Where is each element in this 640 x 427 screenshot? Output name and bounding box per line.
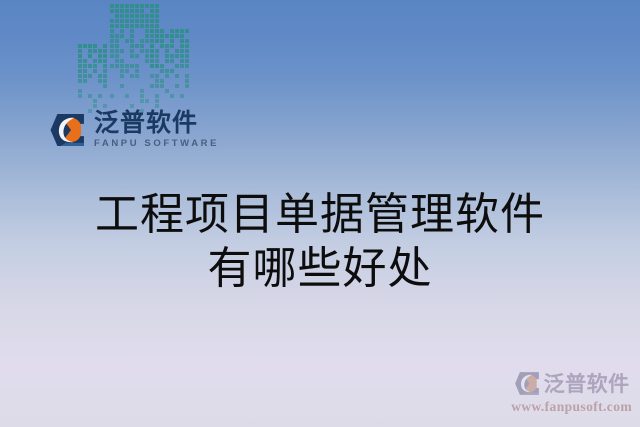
fanpu-logo: 泛普软件 FANPU SOFTWARE [49,111,219,149]
pixel-skyline-icon [78,26,182,114]
watermark-logo-mark-icon [514,370,541,397]
logo-name-cn: 泛普软件 [94,111,219,136]
headline-line-1: 工程项目单据管理软件 [0,188,640,242]
watermark: 泛普软件 www.fanpusoft.com [511,368,632,415]
fanpu-logo-mark-icon [49,111,87,149]
headline: 工程项目单据管理软件 有哪些好处 [0,188,640,296]
logo-name-en: FANPU SOFTWARE [94,139,219,149]
headline-line-2: 有哪些好处 [0,242,640,296]
watermark-name-cn: 泛普软件 [544,368,630,398]
watermark-url: www.fanpusoft.com [511,399,632,415]
mosaic-building [150,29,190,114]
mosaic-building [78,44,108,114]
banner-image: 泛普软件 FANPU SOFTWARE 工程项目单据管理软件 有哪些好处 泛普软… [0,0,640,427]
watermark-logo-row: 泛普软件 [514,368,630,398]
